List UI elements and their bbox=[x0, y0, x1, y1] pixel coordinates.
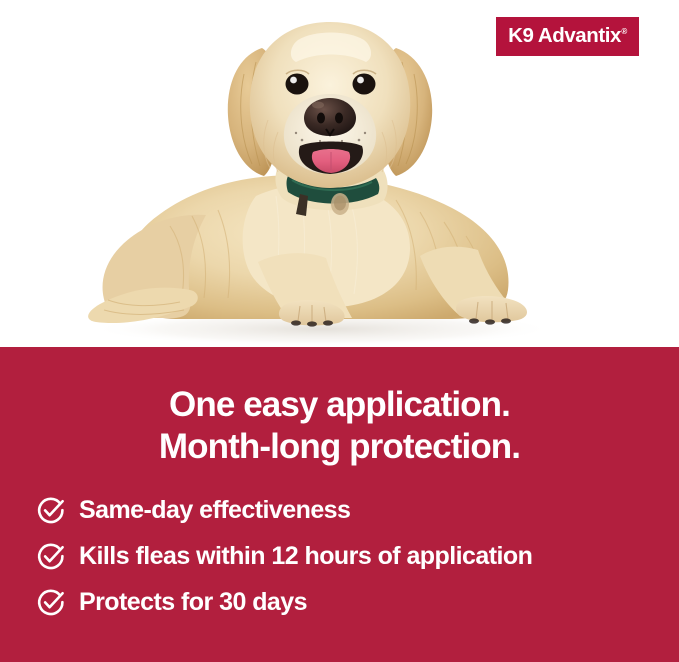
headline: One easy application. Month-long protect… bbox=[0, 384, 679, 468]
benefit-item: Protects for 30 days bbox=[36, 579, 656, 625]
check-circle-icon bbox=[36, 541, 66, 571]
brand-name: K9 Advantix bbox=[508, 24, 621, 47]
registered-trademark-icon: ® bbox=[621, 27, 626, 36]
dog-nose bbox=[304, 98, 356, 136]
product-advertisement-card: K9 Advantix® One easy application. Month… bbox=[0, 0, 679, 662]
check-circle-icon bbox=[36, 495, 66, 525]
benefit-item: Same-day effectiveness bbox=[36, 487, 656, 533]
brand-logo-badge: K9 Advantix® bbox=[496, 17, 639, 56]
brand-logo-text: K9 Advantix® bbox=[508, 26, 627, 47]
check-circle-icon bbox=[36, 587, 66, 617]
benefit-item: Kills fleas within 12 hours of applicati… bbox=[36, 533, 656, 579]
benefit-label: Protects for 30 days bbox=[79, 589, 307, 616]
benefit-list: Same-day effectiveness Kills fleas withi… bbox=[36, 487, 656, 625]
message-panel: One easy application. Month-long protect… bbox=[0, 347, 679, 662]
headline-line-1: One easy application. bbox=[0, 384, 679, 426]
hero-image-panel: K9 Advantix® bbox=[0, 0, 679, 347]
benefit-label: Same-day effectiveness bbox=[79, 497, 350, 524]
benefit-label: Kills fleas within 12 hours of applicati… bbox=[79, 543, 532, 570]
headline-line-2: Month-long protection. bbox=[0, 426, 679, 468]
